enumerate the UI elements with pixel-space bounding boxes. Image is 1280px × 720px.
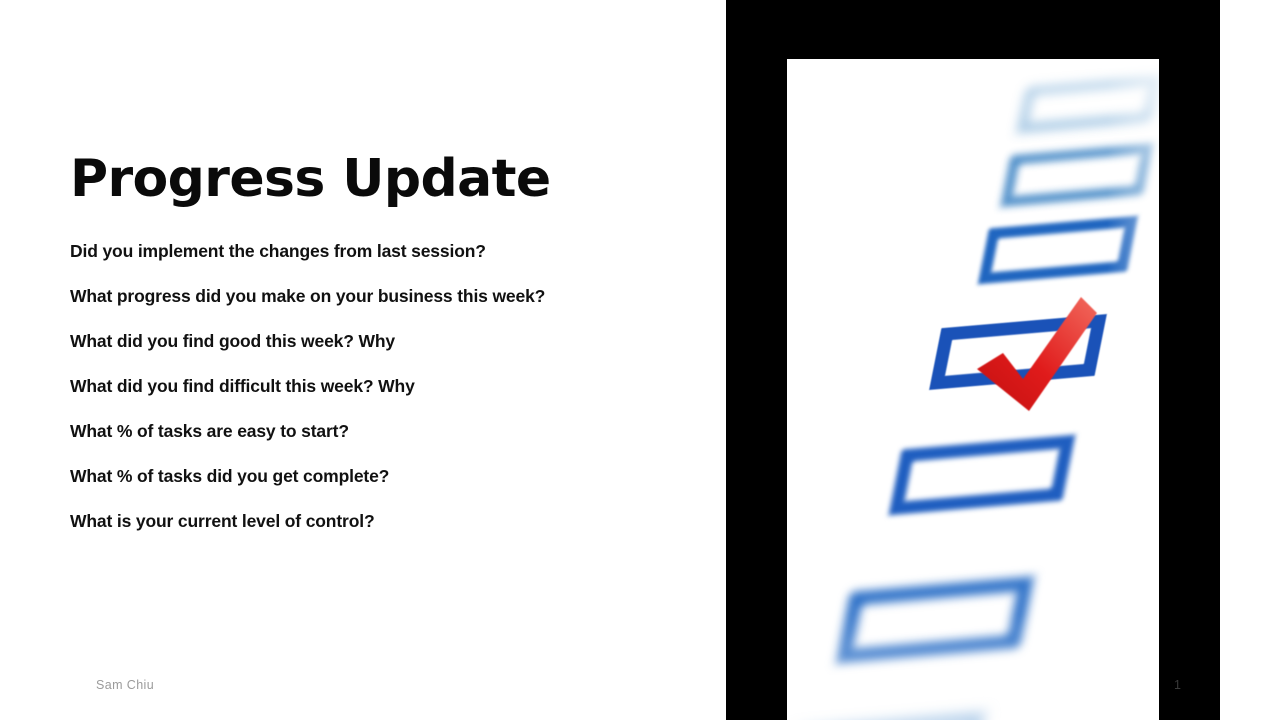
list-item: What progress did you make on your busin…	[70, 284, 670, 329]
slide-canvas: Progress Update Did you implement the ch…	[0, 0, 1280, 720]
list-item: What is your current level of control?	[70, 509, 670, 554]
checkbox-outline-icon	[978, 216, 1138, 285]
question-list: Did you implement the changes from last …	[70, 239, 670, 554]
checkbox-outline-icon	[889, 435, 1076, 516]
checkbox-outline-icon	[787, 713, 984, 720]
slide-number: 1	[1174, 678, 1181, 692]
checkbox-outline-icon	[836, 576, 1034, 663]
page-title: Progress Update	[70, 150, 551, 208]
list-item: What % of tasks did you get complete?	[70, 464, 670, 509]
footer-author-name: Sam Chiu	[96, 678, 154, 692]
checklist-photo	[787, 59, 1159, 720]
check-mark-icon	[969, 295, 1101, 415]
list-item: What did you find good this week? Why	[70, 329, 670, 374]
list-item: Did you implement the changes from last …	[70, 239, 670, 284]
checkbox-outline-icon	[1017, 75, 1159, 132]
slide-text-column: Progress Update Did you implement the ch…	[0, 0, 726, 720]
list-item: What did you find difficult this week? W…	[70, 374, 670, 419]
list-item: What % of tasks are easy to start?	[70, 419, 670, 464]
image-panel: 1	[726, 0, 1220, 720]
checkbox-outline-icon	[1000, 143, 1153, 207]
